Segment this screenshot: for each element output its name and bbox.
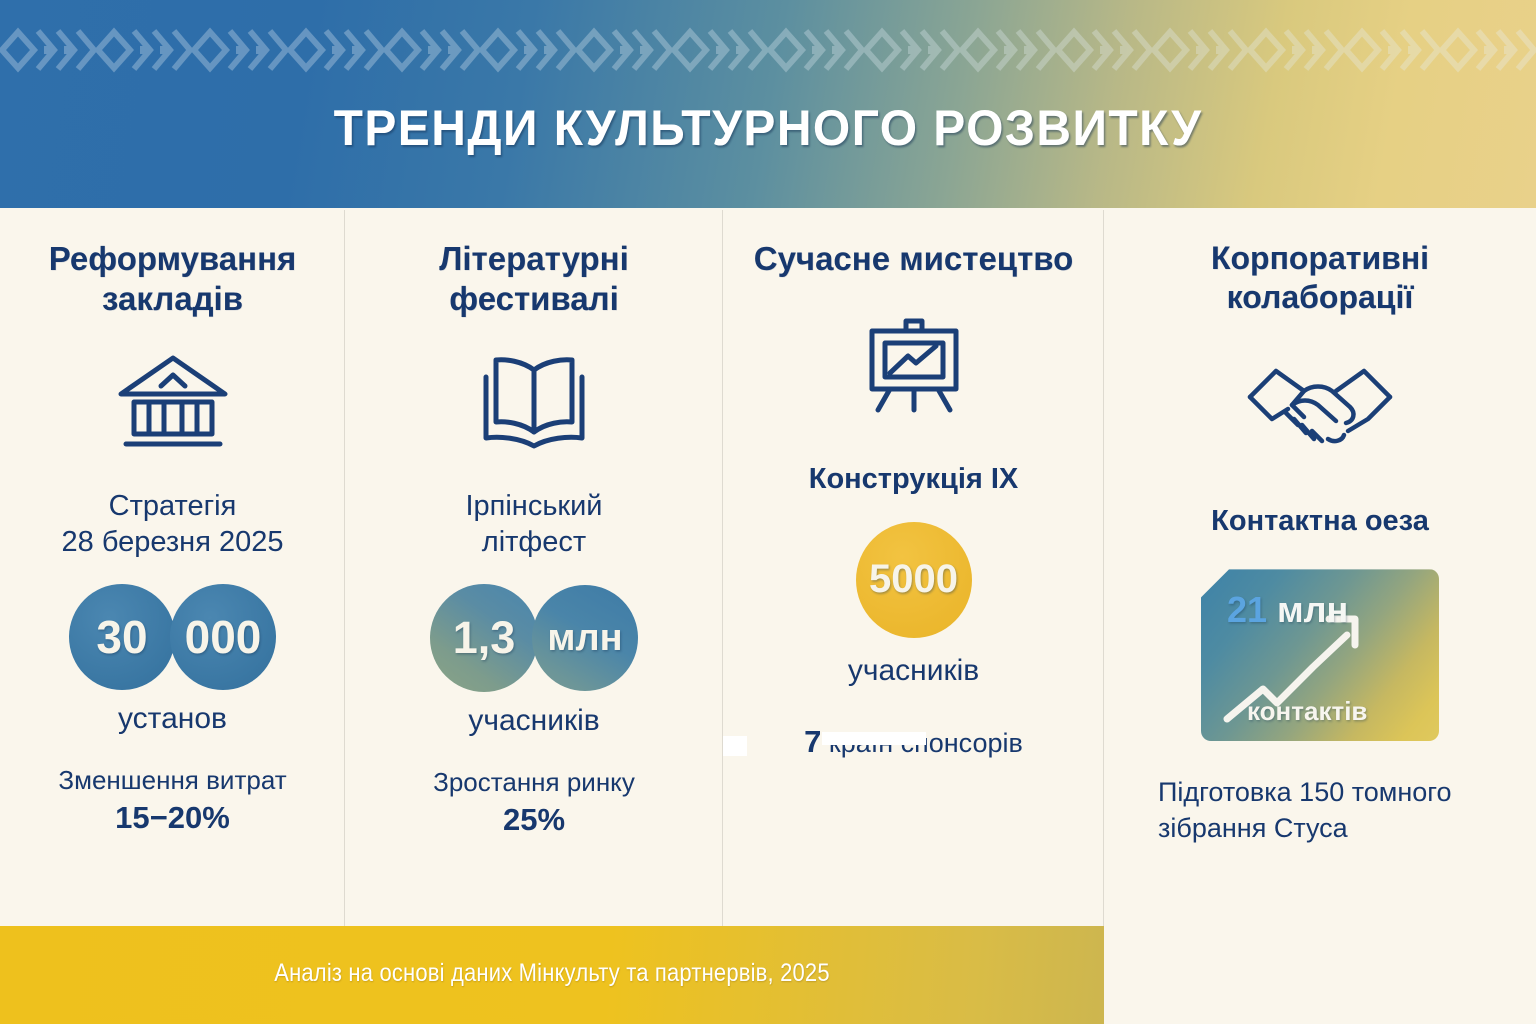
stat-circle: 1,3 (430, 584, 538, 692)
column-subtitle: Стратегія 28 березня 2025 (62, 488, 284, 561)
column-title: Літературні фестивалі (355, 239, 713, 320)
panel-unit: контактів (1247, 696, 1367, 727)
column-title: Сучасне мистецтво (754, 239, 1074, 279)
page-title: ТРЕНДИ КУЛЬТУРНОГО РОЗВИТКУ (31, 99, 1506, 157)
museum-building-icon (112, 346, 234, 458)
column-note: Підготовка 150 томного зібрання Стуса (1114, 775, 1526, 846)
column-note: Зменшення витрат 15−20% (58, 764, 286, 838)
footer-source-note: Аналіз на основі даних Мінкульту та парт… (66, 959, 1038, 988)
column-contemporary-art: Сучасне мистецтво Конструкція IX 5000 уч… (723, 208, 1104, 926)
stat-circle: млн (532, 585, 638, 691)
column-subtitle: Конструкція IX (809, 461, 1019, 497)
handshake-icon (1232, 349, 1408, 461)
contacts-stat-panel: 21 млн контактів (1201, 569, 1439, 741)
stat-unit: установ (118, 702, 227, 736)
column-note: Зростання ринку 25% (433, 766, 635, 840)
column-reform-institutions: Реформування закладів Стратегія 28 берез… (0, 208, 345, 926)
stat-circle: 30 (69, 584, 175, 690)
contacts-stat-panel-wrap: 21 млн контактів (1201, 569, 1439, 741)
stat-unit: учасників (848, 654, 979, 688)
render-artifact (822, 732, 926, 745)
easel-chart-icon (856, 305, 972, 417)
column-subtitle: Контактна оеза (1211, 503, 1429, 539)
column-title: Корпоративні колаборації (1114, 239, 1526, 317)
stat-unit: учасників (468, 704, 599, 738)
stat-circle-group: 5000 (856, 522, 972, 638)
stat-circle-group: 30 000 (69, 584, 276, 690)
column-subtitle: Ірпінський літфест (465, 488, 602, 561)
render-artifact (723, 736, 747, 756)
ukrainian-embroidery-band-icon (0, 27, 1536, 73)
page-footer: Аналіз на основі даних Мінкульту та парт… (0, 926, 1104, 1024)
column-corporate-collaborations: Корпоративні колаборації Контактна оеза (1104, 208, 1536, 926)
stat-circle: 000 (170, 584, 276, 690)
columns-container: Реформування закладів Стратегія 28 берез… (0, 208, 1536, 926)
column-literary-festivals: Літературні фестивалі Ірпінський літфест… (345, 208, 723, 926)
column-title: Реформування закладів (10, 239, 335, 320)
stat-circle: 5000 (856, 522, 972, 638)
page-header: ТРЕНДИ КУЛЬТУРНОГО РОЗВИТКУ (0, 0, 1536, 208)
stat-circle-group: 1,3 млн (430, 584, 638, 692)
open-book-icon (470, 346, 598, 458)
panel-number: 21 млн (1227, 589, 1348, 631)
